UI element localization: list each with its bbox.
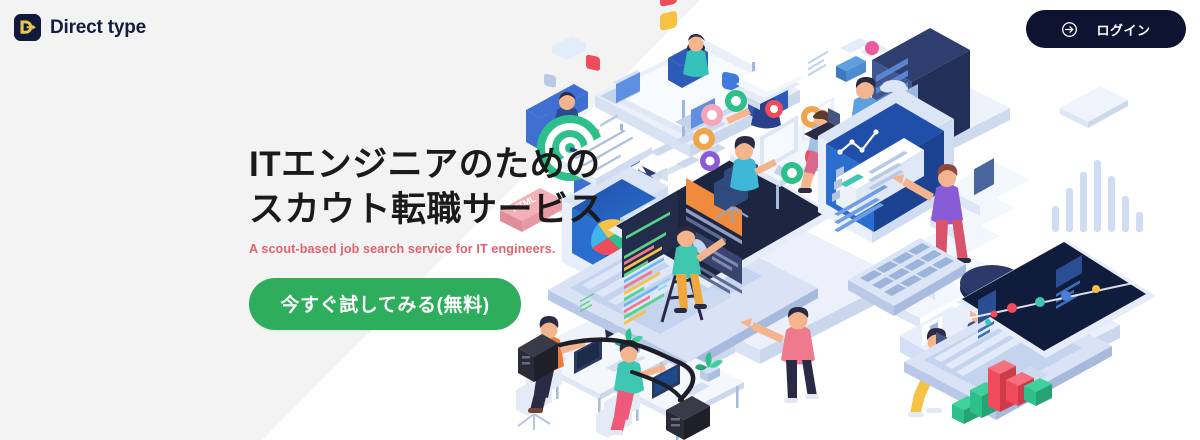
headline-line-2: スカウト転職サービス [249,188,604,233]
logo-text: Direct type [50,17,146,39]
try-now-free-button[interactable]: 今すぐ試してみる(無料) [249,278,521,330]
logo[interactable]: Direct type [14,14,146,41]
direct-type-d-arrow-icon [14,14,41,41]
page-title: ITエンジニアのための スカウト転職サービス [249,143,604,233]
login-button-label: ログイン [1096,20,1150,39]
site-header: Direct type ログイン [0,0,1200,58]
try-now-free-button-label: 今すぐ試してみる(無料) [280,290,489,317]
hero-illustration: HTML C++ [500,0,1200,440]
headline-line-1: ITエンジニアのための [249,145,601,184]
hero-copy: ITエンジニアのための スカウト転職サービス A scout-based job… [249,143,604,330]
hero-section: HTML C++ [0,0,1200,440]
hero-subtitle: A scout-based job search service for IT … [249,242,604,256]
login-button[interactable]: ログイン [1026,10,1186,48]
sign-in-arrow-circle-icon [1061,21,1078,38]
